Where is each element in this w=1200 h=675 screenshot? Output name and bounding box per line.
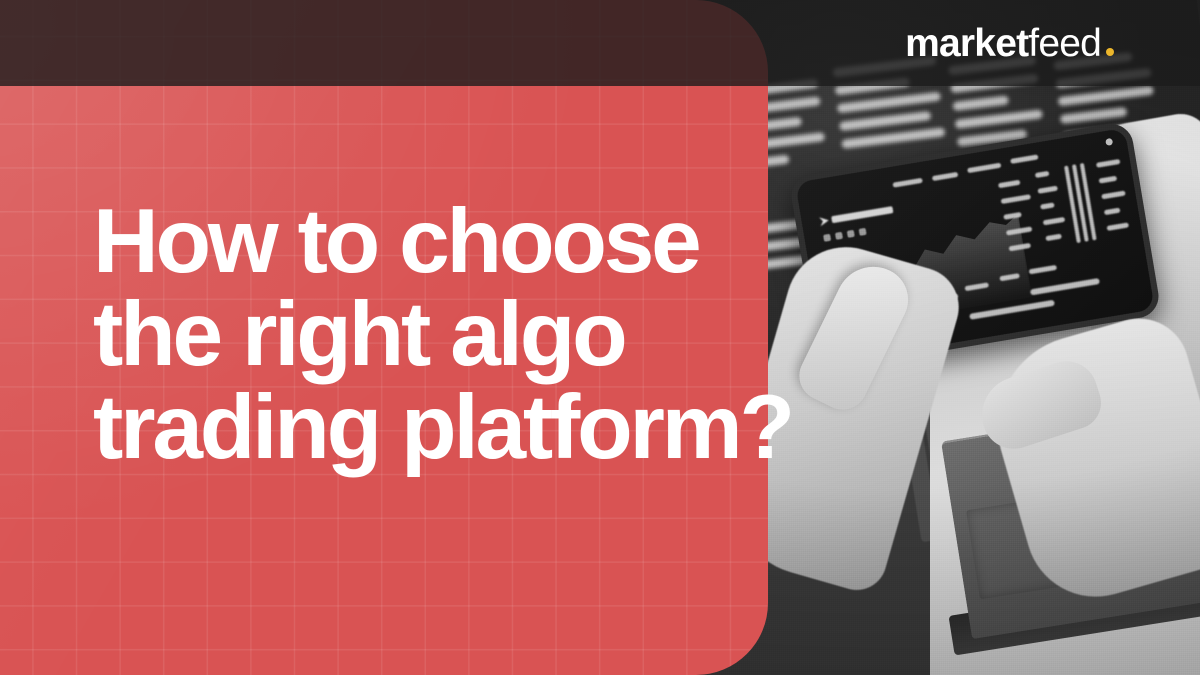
- brand-dot-icon: [1106, 48, 1114, 56]
- phone-row-tick: [1099, 176, 1118, 184]
- phone-toolbar-icons: [823, 228, 867, 242]
- phone-row-tick: [1043, 217, 1066, 226]
- phone-row-tick: [932, 172, 958, 181]
- brand-logo-market: market: [905, 24, 1028, 63]
- phone-row-tick: [1001, 194, 1031, 204]
- headline-line-3: trading platform?: [93, 382, 783, 475]
- brand-logo: market feed: [905, 24, 1114, 63]
- phone-row-tick: [1029, 265, 1057, 275]
- toolbar-icon: [847, 230, 855, 238]
- crypto-logo-wordmark: [831, 206, 893, 223]
- toolbar-icon: [859, 228, 867, 236]
- phone-row-tick: [967, 163, 1001, 174]
- toolbar-icon: [835, 232, 843, 240]
- headline-line-2: the right algo: [93, 289, 783, 382]
- phone-row-tick: [892, 178, 922, 188]
- phone-row-tick: [1045, 234, 1062, 242]
- phone-row-tick: [998, 180, 1021, 189]
- phone-progress-bar: [1030, 278, 1100, 295]
- phone-row-tick: [1037, 186, 1058, 194]
- phone-row-tick: [1035, 171, 1050, 178]
- crypto-logo-mark-icon: [819, 216, 829, 226]
- phone-row-tick: [1101, 190, 1125, 199]
- page-title: How to choose the right algo trading pla…: [93, 196, 783, 474]
- headline-line-1: How to choose: [93, 196, 783, 289]
- phone-camera-icon: [1105, 138, 1113, 146]
- phone-row-tick: [1010, 154, 1038, 164]
- phone-row-tick: [1096, 159, 1120, 168]
- brand-logo-feed: feed: [1028, 24, 1101, 63]
- phone-row-tick: [1040, 202, 1055, 209]
- thumbnail-canvas: How to choose the right algo trading pla…: [0, 0, 1200, 675]
- crypto-app-logo: [819, 205, 893, 226]
- toolbar-icon: [823, 234, 831, 242]
- phone-row-tick: [1107, 222, 1130, 231]
- phone-row-tick: [1104, 208, 1121, 216]
